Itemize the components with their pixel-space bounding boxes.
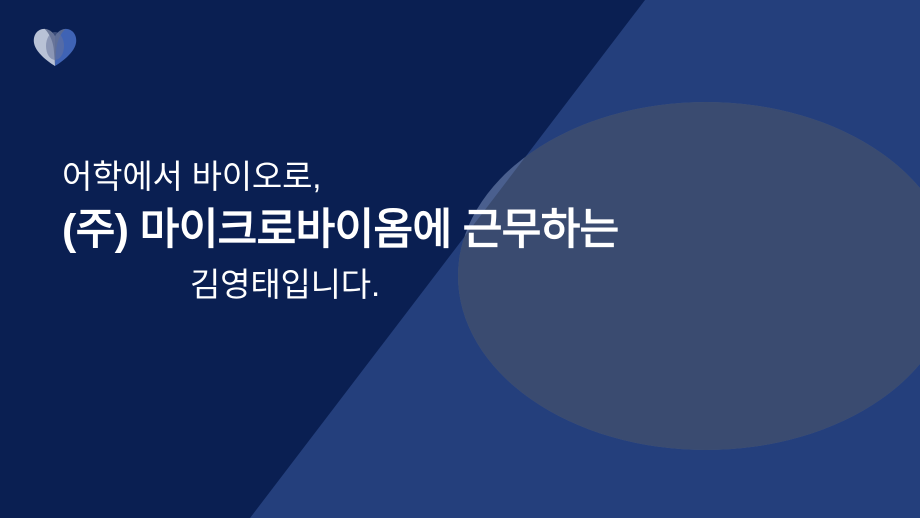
title-block: 어학에서 바이오로, (주) 마이크로바이옴에 근무하는 김영태입니다.	[0, 160, 920, 301]
heart-center-blend	[46, 32, 64, 60]
title-line-1: 어학에서 바이오로,	[0, 160, 920, 193]
heart-icon	[28, 22, 84, 72]
title-line-3: 김영태입니다.	[0, 268, 920, 301]
brand-logo	[28, 22, 84, 72]
title-line-2: (주) 마이크로바이옴에 근무하는	[0, 209, 920, 252]
presentation-slide: 어학에서 바이오로, (주) 마이크로바이옴에 근무하는 김영태입니다.	[0, 0, 920, 518]
